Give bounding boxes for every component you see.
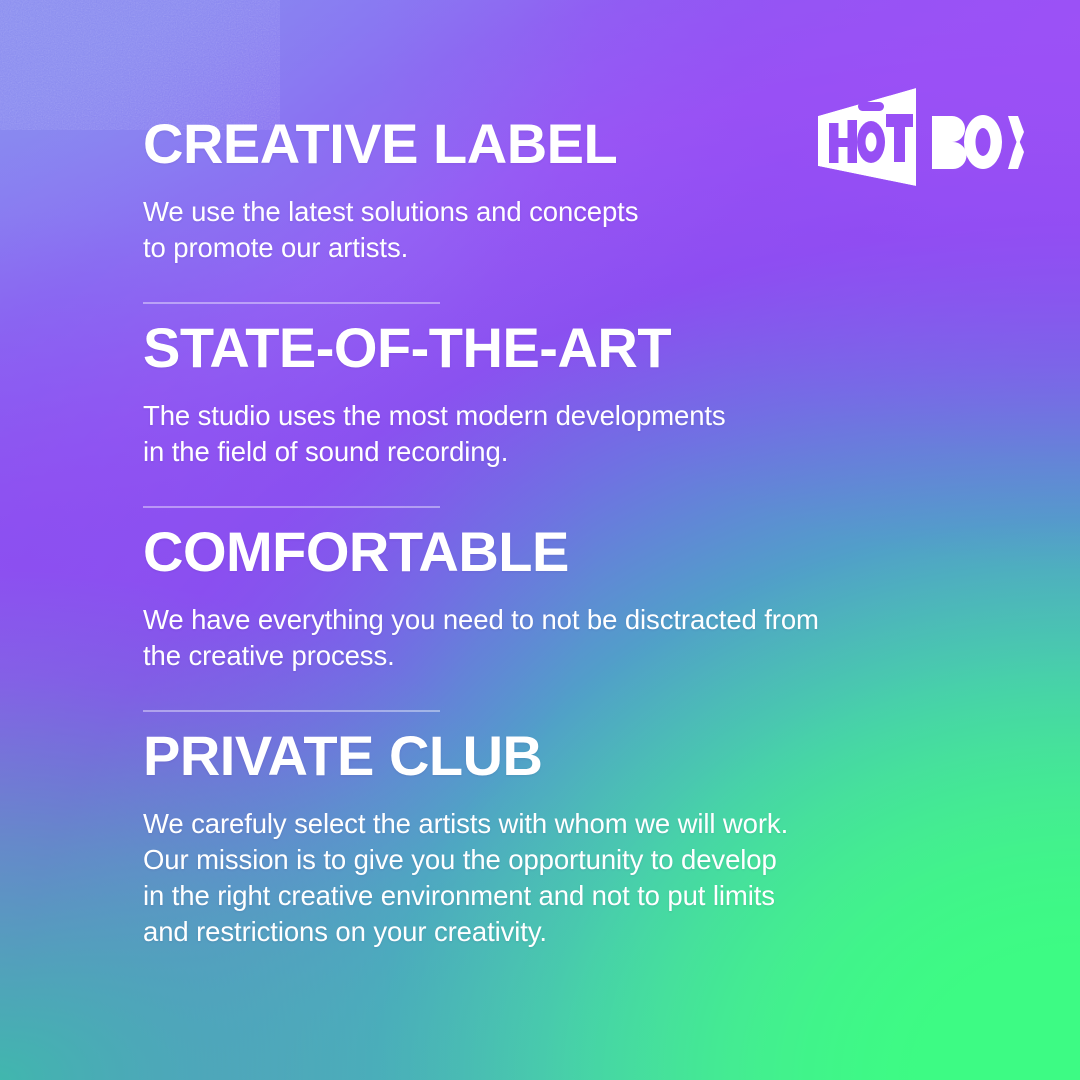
section-comfortable: COMFORTABLE We have everything you need … <box>143 524 819 674</box>
body-line: and restrictions on your creativity. <box>143 914 788 950</box>
section-divider <box>143 302 440 304</box>
hotbox-logo: HOT BOX <box>812 88 1024 186</box>
body-line: We carefuly select the artists with whom… <box>143 806 788 842</box>
promo-poster: HOT BOX CREATIVE LABEL We use the latest… <box>0 0 1080 1080</box>
section-divider <box>143 506 440 508</box>
section-title: STATE-OF-THE-ART <box>143 320 726 376</box>
body-line: Our mission is to give you the opportuni… <box>143 842 788 878</box>
section-private-club: PRIVATE CLUB We carefuly select the arti… <box>143 728 788 950</box>
section-title: COMFORTABLE <box>143 524 819 580</box>
poster-content: HOT BOX CREATIVE LABEL We use the latest… <box>0 0 1080 1080</box>
section-body: We have everything you need to not be di… <box>143 602 819 674</box>
section-divider <box>143 710 440 712</box>
hotbox-logo-icon <box>812 88 1024 186</box>
body-line: the creative process. <box>143 638 819 674</box>
section-body: We carefuly select the artists with whom… <box>143 806 788 950</box>
body-line: to promote our artists. <box>143 230 638 266</box>
body-line: in the right creative environment and no… <box>143 878 788 914</box>
section-title: PRIVATE CLUB <box>143 728 788 784</box>
section-state-of-the-art: STATE-OF-THE-ART The studio uses the mos… <box>143 320 726 470</box>
body-line: We use the latest solutions and concepts <box>143 194 638 230</box>
body-line: We have everything you need to not be di… <box>143 602 819 638</box>
body-line: in the field of sound recording. <box>143 434 726 470</box>
body-line: The studio uses the most modern developm… <box>143 398 726 434</box>
section-creative-label: CREATIVE LABEL We use the latest solutio… <box>143 116 638 266</box>
section-title: CREATIVE LABEL <box>143 116 638 172</box>
section-body: The studio uses the most modern developm… <box>143 398 726 470</box>
section-body: We use the latest solutions and concepts… <box>143 194 638 266</box>
